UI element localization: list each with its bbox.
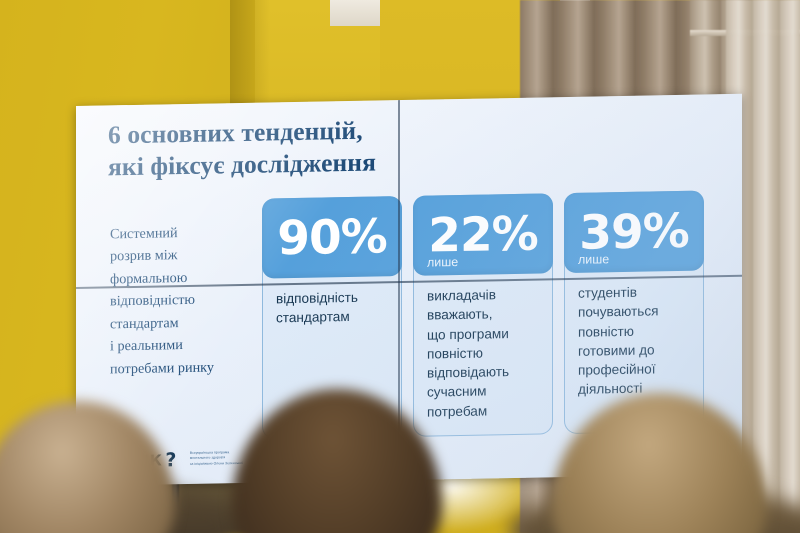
left-col-line: потребами ринку [110, 355, 280, 381]
slide-title-line-1: 6 основних тенденцій, [108, 116, 363, 150]
left-col-line: Системний [110, 220, 280, 246]
left-description-column: Системний розрив між формальною відповід… [110, 220, 280, 380]
left-col-line: стандартам [110, 310, 280, 336]
card-text-line: повністю [578, 320, 691, 341]
left-col-line: і реальними [110, 332, 280, 358]
card-text-line: готовими до [578, 340, 691, 361]
card-text-line: стандартам [276, 307, 389, 328]
left-col-line: розрив між [110, 243, 280, 269]
card-text-line: професійної [578, 359, 691, 380]
percentage-value: 90% [277, 213, 387, 262]
page-title: 6 основних тенденцій, які фіксує дослідж… [108, 108, 708, 183]
card-text-line: викладачів [427, 284, 540, 305]
percentage-badge: 90% [262, 196, 402, 279]
statistic-card: 22% лише викладачів вважають, що програм… [413, 193, 553, 437]
percentage-note: лише [427, 255, 458, 268]
percentage-note: лише [578, 253, 609, 266]
card-text-line: почуваються [578, 301, 691, 322]
card-text-line: вважають, [427, 304, 540, 325]
card-text-line: потребам [427, 400, 540, 421]
card-text-line: що програми [427, 323, 540, 344]
card-text-line: студентів [578, 282, 691, 303]
card-description: викладачів вважають, що програми повніст… [414, 273, 552, 422]
percentage-badge: 22% лише [413, 193, 553, 276]
card-text-line: відповідність [276, 287, 389, 308]
card-text-line: відповідають [427, 362, 540, 383]
percentage-badge: 39% лише [564, 190, 704, 273]
card-description: студентів почуваються повністю готовими … [565, 271, 703, 400]
left-col-line: відповідністю [110, 288, 280, 314]
card-text-line: повністю [427, 342, 540, 363]
percentage-value: 22% [428, 210, 538, 259]
card-text-line: сучасним [427, 381, 540, 402]
percentage-value: 39% [579, 207, 689, 256]
